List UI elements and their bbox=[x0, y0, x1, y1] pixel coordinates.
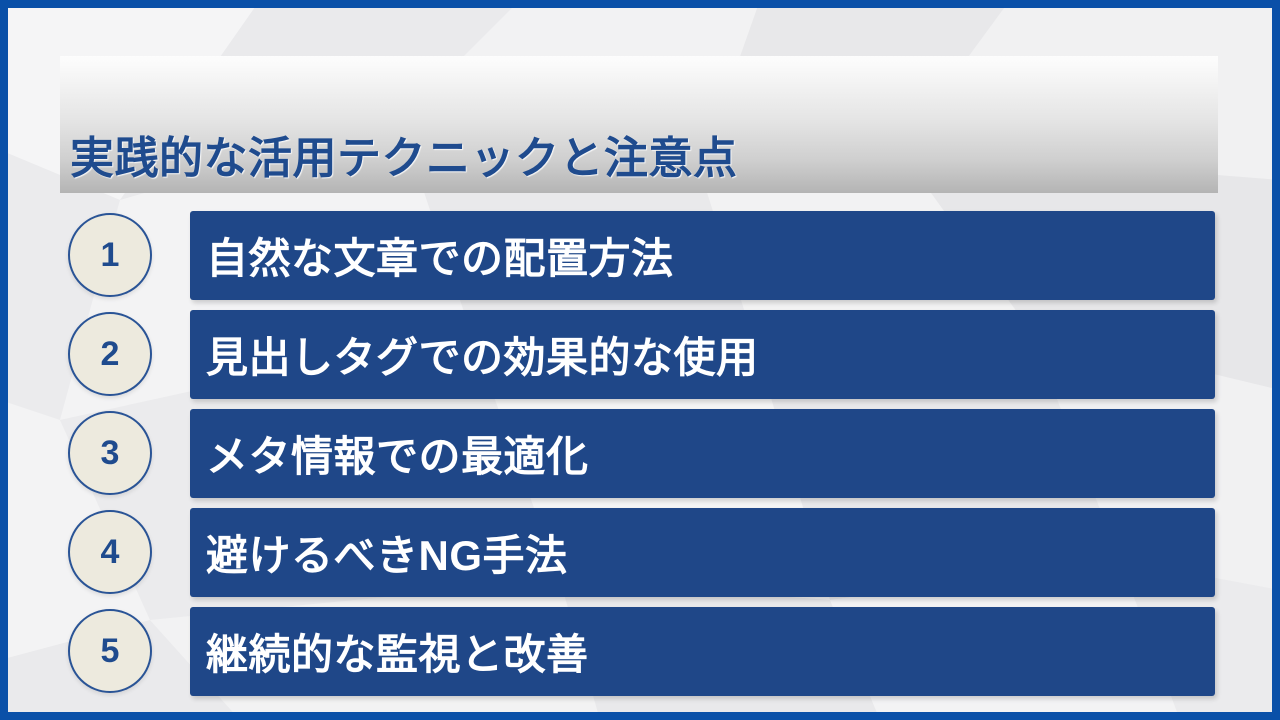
list-item[interactable]: 5 継続的な監視と改善 bbox=[0, 607, 1280, 696]
list-item-bar[interactable]: 継続的な監視と改善 bbox=[190, 607, 1215, 696]
list-item-number-badge: 3 bbox=[68, 411, 152, 495]
list-item-number-badge: 1 bbox=[68, 213, 152, 297]
list-item-bar[interactable]: 自然な文章での配置方法 bbox=[190, 211, 1215, 300]
list-item-label: 見出しタグでの効果的な使用 bbox=[190, 324, 759, 385]
list-item-number-badge: 2 bbox=[68, 312, 152, 396]
list-item[interactable]: 1 自然な文章での配置方法 bbox=[0, 211, 1280, 300]
list-item-label: 自然な文章での配置方法 bbox=[190, 225, 674, 286]
list-item[interactable]: 4 避けるべきNG手法 bbox=[0, 508, 1280, 597]
list-item-number-badge: 5 bbox=[68, 609, 152, 693]
list-item-bar[interactable]: 見出しタグでの効果的な使用 bbox=[190, 310, 1215, 399]
list-item-label: 継続的な監視と改善 bbox=[190, 621, 589, 682]
list-item-number-badge: 4 bbox=[68, 510, 152, 594]
numbered-list: 1 自然な文章での配置方法 2 見出しタグでの効果的な使用 3 メタ情報での最適… bbox=[0, 211, 1280, 706]
list-item-label: メタ情報での最適化 bbox=[190, 423, 589, 484]
slide-canvas: 実践的な活用テクニックと注意点 1 自然な文章での配置方法 2 見出しタグでの効… bbox=[0, 0, 1280, 720]
list-item-bar[interactable]: 避けるべきNG手法 bbox=[190, 508, 1215, 597]
list-item-label: 避けるべきNG手法 bbox=[190, 522, 568, 583]
list-item-bar[interactable]: メタ情報での最適化 bbox=[190, 409, 1215, 498]
page-title: 実践的な活用テクニックと注意点 bbox=[70, 85, 1210, 222]
list-item[interactable]: 3 メタ情報での最適化 bbox=[0, 409, 1280, 498]
list-item[interactable]: 2 見出しタグでの効果的な使用 bbox=[0, 310, 1280, 399]
